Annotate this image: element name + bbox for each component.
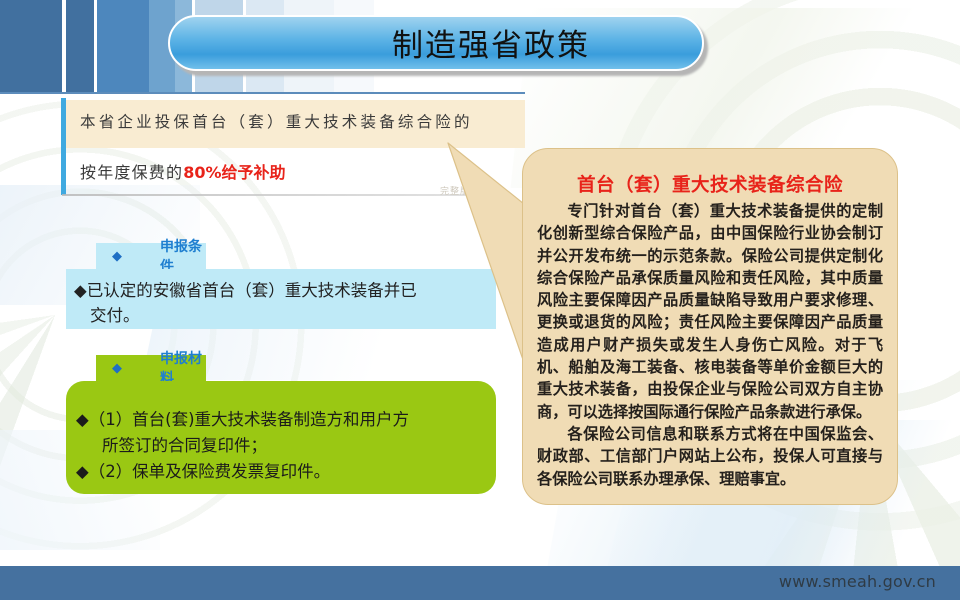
header-underline <box>0 92 525 94</box>
slide-canvas: 制造强省政策 本省企业投保首台（套）重大技术装备综合险的 按年度保费的80%给予… <box>0 0 960 600</box>
footer-url: www.smeah.gov.cn <box>779 572 936 591</box>
diamond-icon: ◆ <box>112 250 122 263</box>
callout-title: 首台（套）重大技术装备综合险 <box>537 171 883 197</box>
callout-paragraph-1: 专门针对首台（套）重大技术装备提供的定制化创新型综合保险产品，由中国保险行业协会… <box>537 200 883 423</box>
page-title: 制造强省政策 <box>282 20 590 67</box>
header-stripe-5 <box>97 0 149 92</box>
section-header-conditions: ◆ 申报条件 <box>96 243 206 269</box>
statement-percent-highlight: 80% <box>183 163 221 182</box>
header-stripe-3 <box>66 0 94 92</box>
section-header-materials: ◆ 申报材料 <box>96 355 206 381</box>
statement-line-1: 本省企业投保首台（套）重大技术装备综合险的 <box>80 110 510 132</box>
statement-line-2: 按年度保费的80%给予补助 <box>80 159 286 183</box>
statement-line-2-suffix: 给予补助 <box>222 163 286 182</box>
header-stripe-1 <box>0 0 62 92</box>
statement-line-2-prefix: 按年度保费的 <box>80 163 183 182</box>
callout-paragraph-2: 各保险公司信息和联系方式将在中国保监会、财政部、工信部门户网站上公布，投保人可直… <box>537 423 883 490</box>
page-title-pill: 制造强省政策 <box>168 15 704 71</box>
diamond-icon: ◆ <box>112 362 122 375</box>
statement-divider <box>62 194 474 196</box>
callout-panel: 首台（套）重大技术装备综合险 专门针对首台（套）重大技术装备提供的定制化创新型综… <box>522 148 898 505</box>
